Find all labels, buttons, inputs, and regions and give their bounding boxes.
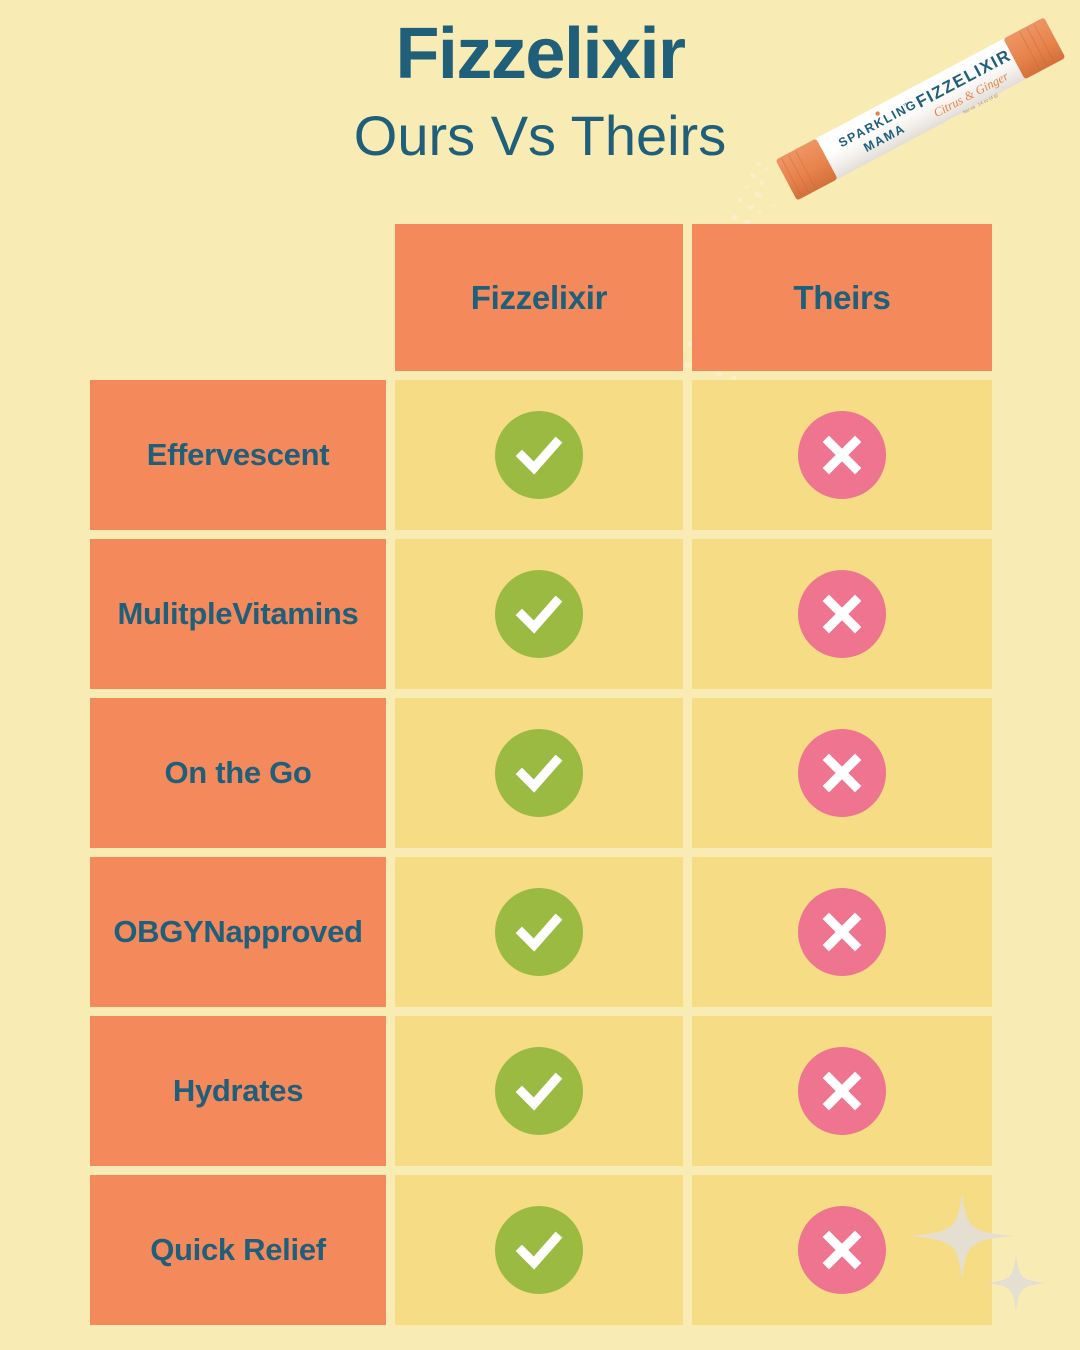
feature-label: On the Go [90,698,386,848]
feature-label: OBGYNapproved [90,857,386,1007]
check-icon [513,906,565,958]
cross-icon [818,1226,866,1274]
ours-mark-cell [395,380,683,530]
cross-badge [798,411,886,499]
ours-mark-cell [395,857,683,1007]
table-row: Quick Relief [90,1175,992,1325]
check-icon [513,1224,565,1276]
theirs-mark-cell [692,1175,992,1325]
table-row: MulitpleVitamins [90,539,992,689]
cross-icon [818,590,866,638]
cross-badge [798,1206,886,1294]
table-header-ours: Fizzelixir [395,224,683,371]
page-header: Fizzelixir Ours Vs Theirs [0,0,1080,210]
check-badge [495,729,583,817]
ours-mark-cell [395,698,683,848]
page-subtitle: Ours Vs Theirs [0,108,1080,164]
table-header-corner-spacer [90,224,386,371]
feature-label: Quick Relief [90,1175,386,1325]
cross-badge [798,1047,886,1135]
table-row: Effervescent [90,380,992,530]
table-header-theirs: Theirs [692,224,992,371]
check-badge [495,888,583,976]
cross-badge [798,888,886,976]
cross-icon [818,749,866,797]
table-header-row: Fizzelixir Theirs [90,224,992,371]
comparison-table: Fizzelixir Theirs EffervescentMulitpleVi… [90,224,992,1306]
check-badge [495,411,583,499]
check-icon [513,588,565,640]
cross-badge [798,729,886,817]
cross-icon [818,431,866,479]
theirs-mark-cell [692,1016,992,1166]
cross-badge [798,570,886,658]
check-badge [495,1047,583,1135]
cross-icon [818,908,866,956]
feature-label: MulitpleVitamins [90,539,386,689]
check-icon [513,747,565,799]
theirs-mark-cell [692,539,992,689]
check-badge [495,570,583,658]
ours-mark-cell [395,539,683,689]
cross-icon [818,1067,866,1115]
table-row: OBGYNapproved [90,857,992,1007]
table-row: On the Go [90,698,992,848]
theirs-mark-cell [692,857,992,1007]
check-icon [513,1065,565,1117]
table-row: Hydrates [90,1016,992,1166]
check-icon [513,429,565,481]
ours-mark-cell [395,1175,683,1325]
feature-label: Effervescent [90,380,386,530]
table-body: EffervescentMulitpleVitaminsOn the GoOBG… [90,380,992,1325]
ours-mark-cell [395,1016,683,1166]
sparkle-small-icon [986,1254,1046,1312]
theirs-mark-cell [692,380,992,530]
check-badge [495,1206,583,1294]
theirs-mark-cell [692,698,992,848]
feature-label: Hydrates [90,1016,386,1166]
page-title: Fizzelixir [0,18,1080,90]
